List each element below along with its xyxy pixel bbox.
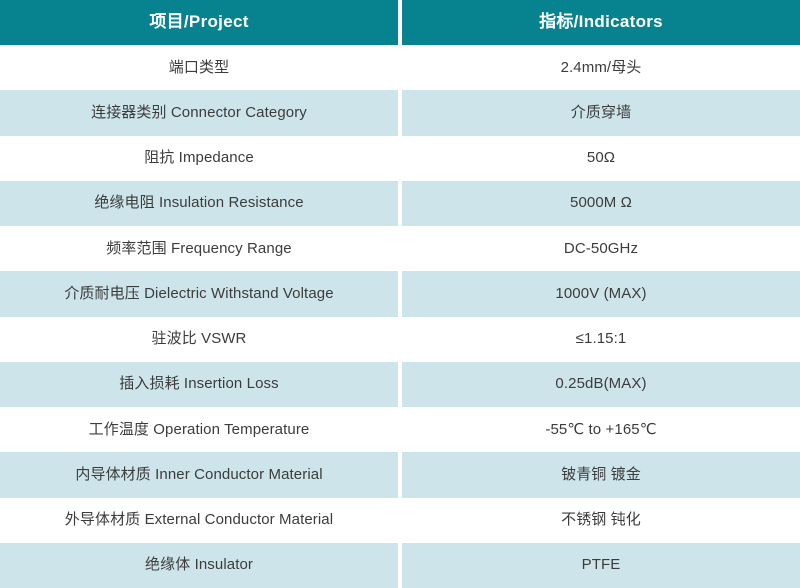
table-row: 绝缘电阻 Insulation Resistance5000M Ω — [0, 181, 800, 226]
cell-indicator: 介质穿墙 — [402, 90, 800, 135]
table-row: 连接器类别 Connector Category介质穿墙 — [0, 90, 800, 135]
cell-indicator: 不锈钢 钝化 — [402, 498, 800, 543]
cell-project: 绝缘体 Insulator — [0, 543, 398, 588]
specification-table: 项目/Project 指标/Indicators 端口类型2.4mm/母头连接器… — [0, 0, 800, 588]
table-row: 外导体材质 External Conductor Material不锈钢 钝化 — [0, 498, 800, 543]
cell-project: 频率范围 Frequency Range — [0, 226, 398, 271]
cell-project: 工作温度 Operation Temperature — [0, 407, 398, 452]
cell-indicator: 5000M Ω — [402, 181, 800, 226]
cell-indicator: DC-50GHz — [402, 226, 800, 271]
cell-indicator: -55℃ to +165℃ — [402, 407, 800, 452]
column-header-project: 项目/Project — [0, 0, 398, 45]
cell-indicator: 2.4mm/母头 — [402, 45, 800, 90]
cell-indicator: ≤1.15:1 — [402, 317, 800, 362]
table-row: 端口类型2.4mm/母头 — [0, 45, 800, 90]
cell-project: 绝缘电阻 Insulation Resistance — [0, 181, 398, 226]
cell-indicator: 1000V (MAX) — [402, 271, 800, 316]
table-row: 介质耐电压 Dielectric Withstand Voltage1000V … — [0, 271, 800, 316]
cell-project: 连接器类别 Connector Category — [0, 90, 398, 135]
cell-indicator: 0.25dB(MAX) — [402, 362, 800, 407]
cell-project: 内导体材质 Inner Conductor Material — [0, 452, 398, 497]
table-row: 驻波比 VSWR≤1.15:1 — [0, 317, 800, 362]
table-row: 频率范围 Frequency RangeDC-50GHz — [0, 226, 800, 271]
cell-project: 阻抗 Impedance — [0, 136, 398, 181]
cell-indicator: PTFE — [402, 543, 800, 588]
cell-project: 端口类型 — [0, 45, 398, 90]
cell-project: 外导体材质 External Conductor Material — [0, 498, 398, 543]
cell-project: 介质耐电压 Dielectric Withstand Voltage — [0, 271, 398, 316]
table-row: 插入损耗 Insertion Loss0.25dB(MAX) — [0, 362, 800, 407]
table-header-row: 项目/Project 指标/Indicators — [0, 0, 800, 45]
cell-project: 插入损耗 Insertion Loss — [0, 362, 398, 407]
table-body: 端口类型2.4mm/母头连接器类别 Connector Category介质穿墙… — [0, 45, 800, 588]
table-row: 阻抗 Impedance50Ω — [0, 136, 800, 181]
table-row: 内导体材质 Inner Conductor Material铍青铜 镀金 — [0, 452, 800, 497]
table-row: 工作温度 Operation Temperature-55℃ to +165℃ — [0, 407, 800, 452]
cell-indicator: 50Ω — [402, 136, 800, 181]
table-row: 绝缘体 InsulatorPTFE — [0, 543, 800, 588]
cell-project: 驻波比 VSWR — [0, 317, 398, 362]
cell-indicator: 铍青铜 镀金 — [402, 452, 800, 497]
column-header-indicators: 指标/Indicators — [402, 0, 800, 45]
